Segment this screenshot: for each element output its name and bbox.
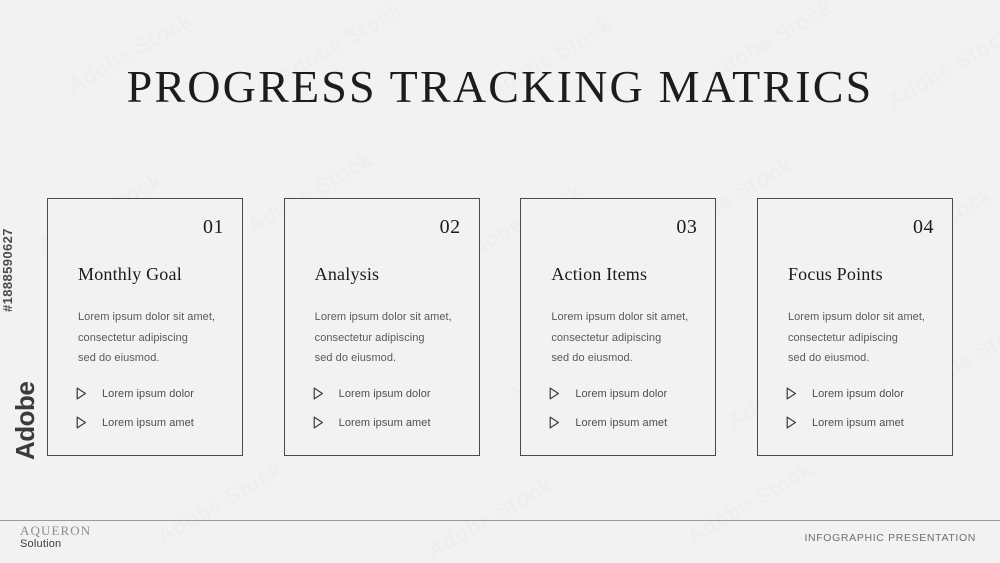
list-item[interactable]: Lorem ipsum dolor: [786, 379, 944, 408]
triangle-right-outline-icon: [76, 387, 87, 400]
watermark-asset-id: #1888590627: [0, 152, 15, 312]
watermark-tile: Adobe Stock: [683, 457, 817, 550]
card-body: Lorem ipsum dolor sit amet, consectetur …: [78, 307, 232, 369]
triangle-right-outline-icon: [786, 416, 797, 429]
triangle-right-outline-icon: [76, 416, 87, 429]
brand-logo-subtitle: Solution: [20, 539, 91, 551]
card-number: 01: [203, 216, 224, 239]
card-title: Monthly Goal: [78, 264, 228, 286]
card-body-line: consectetur adipiscing: [788, 328, 942, 349]
list-item-label: Lorem ipsum amet: [102, 417, 194, 429]
triangle-right-outline-icon: [549, 416, 560, 429]
card-body-line: sed do eiusmod.: [78, 348, 232, 369]
card-title: Analysis: [315, 264, 465, 286]
list-item-label: Lorem ipsum amet: [339, 417, 431, 429]
triangle-right-outline-icon: [313, 387, 324, 400]
card-body: Lorem ipsum dolor sit amet, consectetur …: [315, 307, 469, 369]
card-number: 02: [440, 216, 461, 239]
triangle-right-outline-icon: [549, 387, 560, 400]
card-body: Lorem ipsum dolor sit amet, consectetur …: [788, 307, 942, 369]
list-item-label: Lorem ipsum dolor: [575, 388, 667, 400]
card-action-items[interactable]: 03 Action Items Lorem ipsum dolor sit am…: [520, 198, 716, 456]
page-title-container: PROGRESS TRACKING MATRICS: [0, 62, 1000, 113]
card-body-line: Lorem ipsum dolor sit amet,: [78, 307, 232, 328]
card-focus-points[interactable]: 04 Focus Points Lorem ipsum dolor sit am…: [757, 198, 953, 456]
list-item-label: Lorem ipsum dolor: [102, 388, 194, 400]
watermark-tile: Adobe Stock: [153, 457, 287, 550]
card-analysis[interactable]: 02 Analysis Lorem ipsum dolor sit amet, …: [284, 198, 480, 456]
card-body-line: sed do eiusmod.: [315, 348, 469, 369]
card-body-line: Lorem ipsum dolor sit amet,: [788, 307, 942, 328]
card-title: Focus Points: [788, 264, 938, 286]
list-item[interactable]: Lorem ipsum dolor: [313, 379, 471, 408]
card-body-line: sed do eiusmod.: [788, 348, 942, 369]
list-item-label: Lorem ipsum dolor: [812, 388, 904, 400]
watermark-brand: Adobe: [10, 382, 41, 460]
card-bullet-list: Lorem ipsum dolor Lorem ipsum amet: [313, 379, 471, 437]
card-body-line: consectetur adipiscing: [78, 328, 232, 349]
card-bullet-list: Lorem ipsum dolor Lorem ipsum amet: [76, 379, 234, 437]
card-body: Lorem ipsum dolor sit amet, consectetur …: [551, 307, 705, 369]
footer-divider: [0, 520, 1000, 521]
list-item[interactable]: Lorem ipsum amet: [313, 408, 471, 437]
cards-row: 01 Monthly Goal Lorem ipsum dolor sit am…: [47, 198, 953, 456]
triangle-right-outline-icon: [313, 416, 324, 429]
list-item[interactable]: Lorem ipsum dolor: [76, 379, 234, 408]
card-bullet-list: Lorem ipsum dolor Lorem ipsum amet: [549, 379, 707, 437]
list-item[interactable]: Lorem ipsum dolor: [549, 379, 707, 408]
card-bullet-list: Lorem ipsum dolor Lorem ipsum amet: [786, 379, 944, 437]
page-title: PROGRESS TRACKING MATRICS: [0, 62, 1000, 113]
brand-logo: AQUERON Solution: [20, 524, 91, 550]
card-body-line: Lorem ipsum dolor sit amet,: [551, 307, 705, 328]
list-item-label: Lorem ipsum amet: [575, 417, 667, 429]
card-title: Action Items: [551, 264, 701, 286]
list-item[interactable]: Lorem ipsum amet: [76, 408, 234, 437]
slide-canvas: Adobe Stock Adobe Stock Adobe Stock Adob…: [0, 0, 1000, 563]
list-item[interactable]: Lorem ipsum amet: [549, 408, 707, 437]
list-item-label: Lorem ipsum amet: [812, 417, 904, 429]
watermark-tile: Adobe Stock: [423, 472, 557, 563]
triangle-right-outline-icon: [786, 387, 797, 400]
footer-caption: INFOGRAPHIC PRESENTATION: [804, 532, 976, 544]
card-body-line: consectetur adipiscing: [315, 328, 469, 349]
card-number: 04: [913, 216, 934, 239]
list-item-label: Lorem ipsum dolor: [339, 388, 431, 400]
brand-logo-name: AQUERON: [20, 524, 91, 538]
list-item[interactable]: Lorem ipsum amet: [786, 408, 944, 437]
card-body-line: sed do eiusmod.: [551, 348, 705, 369]
card-body-line: Lorem ipsum dolor sit amet,: [315, 307, 469, 328]
card-monthly-goal[interactable]: 01 Monthly Goal Lorem ipsum dolor sit am…: [47, 198, 243, 456]
card-body-line: consectetur adipiscing: [551, 328, 705, 349]
card-number: 03: [676, 216, 697, 239]
